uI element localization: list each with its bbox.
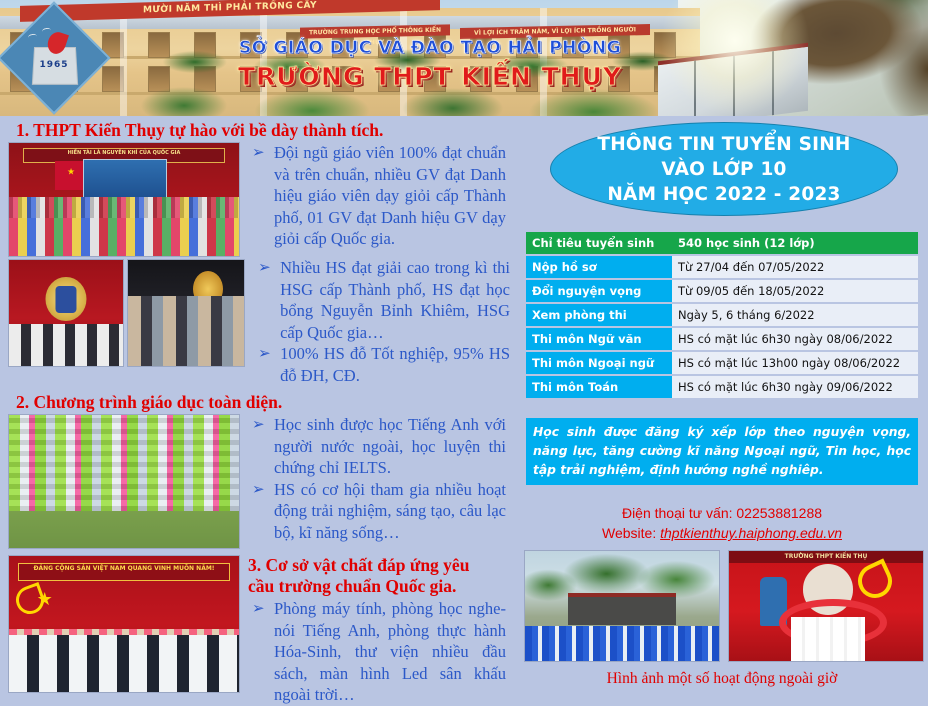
- headline-line-1: THÔNG TIN TUYỂN SINH: [597, 134, 850, 155]
- section-1-text: ➢ Đội ngũ giáo viên 100% đạt chuẩn và tr…: [240, 142, 512, 257]
- table-cell-label: Thi môn Ngữ văn: [526, 328, 672, 350]
- table-row: Thi môn Ngoại ngữ HS có mặt lúc 13h00 ng…: [526, 352, 918, 374]
- group-of-people: [128, 296, 244, 366]
- students-blue-uniform: [525, 626, 719, 661]
- section-2-title: 2. Chương trình giáo dục toàn diện.: [0, 386, 516, 414]
- website-link[interactable]: thptkienthuy.haiphong.edu.vn: [660, 525, 842, 541]
- table-cell-label: Thi môn Ngoại ngữ: [526, 352, 672, 374]
- section-1-title: 1. THPT Kiến Thụy tự hào với bề dày thàn…: [0, 118, 516, 142]
- admission-poster: MƯỜI NĂM THÌ PHẢI TRỒNG CÂY TRƯỜNG TRUNG…: [0, 0, 928, 697]
- stage-top-banner: TRƯỜNG THPT KIẾN THỤ: [729, 551, 923, 563]
- sun-flare: [660, 0, 810, 116]
- section-3-title: 3. Cơ sở vật chất đáp ứng yêu cầu trường…: [248, 555, 506, 598]
- table-cell-value: Từ 27/04 đến 07/05/2022: [672, 256, 918, 278]
- list-item: ➢ HS có cơ hội tham gia nhiều hoạt động …: [248, 479, 506, 544]
- list-item: ➢ Phòng máy tính, phòng học nghe-nói Tiế…: [248, 598, 506, 706]
- award-recipients: [9, 324, 123, 366]
- table-cell-label: Xem phòng thi: [526, 304, 672, 326]
- arrow-bullet-icon: ➢: [252, 480, 265, 502]
- school-name: TRƯỜNG THPT KIẾN THỤY: [130, 62, 730, 91]
- party-banner-strip: ĐẢNG CỘNG SẢN VIỆT NAM QUANG VINH MUÔN N…: [18, 563, 230, 581]
- performers-in-ao-dai: [791, 617, 865, 661]
- bottom-photo-strip: TRƯỜNG THPT KIẾN THỤ: [524, 550, 924, 662]
- headline-ellipse: THÔNG TIN TUYỂN SINH VÀO LỚP 10 NĂM HỌC …: [550, 122, 898, 216]
- section-3-text: ➢ Phòng máy tính, phòng học nghe-nói Tiế…: [248, 598, 506, 706]
- header-banner: MƯỜI NĂM THÌ PHẢI TRỒNG CÂY TRƯỜNG TRUNG…: [0, 0, 928, 116]
- photo-school-gate-group: [524, 550, 720, 662]
- headline-line-2: VÀO LỚP 10: [661, 159, 786, 180]
- section-3-block: 3. Cơ sở vật chất đáp ứng yêu cầu trường…: [240, 555, 512, 706]
- section-1-text-2: ➢ Nhiều HS đạt giải cao trong kì thi HSG…: [246, 257, 516, 386]
- table-cell-value: HS có mặt lúc 13h00 ngày 08/06/2022: [672, 352, 918, 374]
- party-members: [9, 635, 239, 692]
- photo-stage-performance: TRƯỜNG THPT KIẾN THỤ: [728, 550, 924, 662]
- list-item: ➢ Đội ngũ giáo viên 100% đạt chuẩn và tr…: [248, 142, 506, 250]
- stage-screen: [83, 159, 168, 202]
- list-item: ➢ Học sinh được học Tiếng Anh với người …: [248, 414, 506, 479]
- headline-line-3: NĂM HỌC 2022 - 2023: [607, 184, 840, 205]
- table-cell-label: Chỉ tiêu tuyển sinh: [526, 232, 672, 254]
- students-on-field: [9, 415, 239, 511]
- list-item: ➢ 100% HS đỗ Tốt nghiệp, 95% HS đỗ ĐH, C…: [254, 343, 510, 386]
- section-1-row: HIỀN TÀI LÀ NGUYÊN KHÍ CỦA QUỐC GIA ➢ Độ…: [0, 142, 516, 257]
- photo-outdoor-activity: [8, 414, 240, 549]
- school-gate: [568, 593, 677, 626]
- phone-line: Điện thoại tư vấn: 02253881288: [516, 503, 928, 523]
- website-line: Website: thptkienthuy.haiphong.edu.vn: [516, 523, 928, 543]
- photo-party-admission: ĐẢNG CỘNG SẢN VIỆT NAM QUANG VINH MUÔN N…: [8, 555, 240, 693]
- section-2-text: ➢ Học sinh được học Tiếng Anh với người …: [240, 414, 512, 549]
- left-content-column: 1. THPT Kiến Thụy tự hào với bề dày thàn…: [0, 118, 516, 697]
- table-cell-value: 540 học sinh (12 lớp): [672, 232, 918, 254]
- website-label: Website:: [602, 525, 660, 541]
- photo-student-group: [127, 259, 245, 367]
- table-cell-value: HS có mặt lúc 6h30 ngày 08/06/2022: [672, 328, 918, 350]
- table-cell-value: HS có mặt lúc 6h30 ngày 09/06/2022: [672, 376, 918, 398]
- table-row: Thi môn Ngữ văn HS có mặt lúc 6h30 ngày …: [526, 328, 918, 350]
- section-3-row: ĐẢNG CỘNG SẢN VIỆT NAM QUANG VINH MUÔN N…: [0, 555, 516, 706]
- table-cell-label: Nộp hồ sơ: [526, 256, 672, 278]
- table-row: Nộp hồ sơ Từ 27/04 đến 07/05/2022: [526, 256, 918, 278]
- table-row: Xem phòng thi Ngày 5, 6 tháng 6/2022: [526, 304, 918, 326]
- photo-award-ceremony: [8, 259, 124, 367]
- bottom-caption: Hình ảnh một số hoạt động ngoài giờ: [516, 670, 928, 688]
- section-2-row: ➢ Học sinh được học Tiếng Anh với người …: [0, 414, 516, 549]
- right-info-column: THÔNG TIN TUYỂN SINH VÀO LỚP 10 NĂM HỌC …: [516, 118, 928, 697]
- table-cell-value: Từ 09/05 đến 18/05/2022: [672, 280, 918, 302]
- arrow-bullet-icon: ➢: [252, 143, 265, 165]
- contact-block: Điện thoại tư vấn: 02253881288 Website: …: [516, 503, 928, 543]
- arrow-bullet-icon: ➢: [258, 258, 271, 280]
- photo-teachers-ceremony: HIỀN TÀI LÀ NGUYÊN KHÍ CỦA QUỐC GIA: [8, 142, 240, 257]
- table-row: Đổi nguyện vọng Từ 09/05 đến 18/05/2022: [526, 280, 918, 302]
- arrow-bullet-icon: ➢: [252, 415, 265, 437]
- teacher-group: [9, 197, 239, 256]
- class-placement-note: Học sinh được đăng ký xếp lớp theo nguyệ…: [526, 418, 918, 485]
- table-row: Thi môn Toán HS có mặt lúc 6h30 ngày 09/…: [526, 376, 918, 398]
- arrow-bullet-icon: ➢: [258, 344, 271, 366]
- arrow-bullet-icon: ➢: [252, 599, 265, 621]
- table-cell-value: Ngày 5, 6 tháng 6/2022: [672, 304, 918, 326]
- table-row: Chỉ tiêu tuyển sinh 540 học sinh (12 lớp…: [526, 232, 918, 254]
- department-name: SỞ GIÁO DỤC VÀ ĐÀO TẠO HẢI PHÒNG: [150, 38, 710, 58]
- table-cell-label: Đổi nguyện vọng: [526, 280, 672, 302]
- admission-info-table: Chỉ tiêu tuyển sinh 540 học sinh (12 lớp…: [526, 230, 918, 400]
- banner-small-ribbon-left: TRƯỜNG TRUNG HỌC PHỔ THÔNG KIẾN THỤY: [300, 24, 450, 38]
- section-1-row-2: ➢ Nhiều HS đạt giải cao trong kì thi HSG…: [0, 257, 516, 386]
- hammer-sickle-icon: [852, 559, 897, 604]
- table-cell-label: Thi môn Toán: [526, 376, 672, 398]
- medal-emblem: [45, 277, 86, 322]
- list-item: ➢ Nhiều HS đạt giải cao trong kì thi HSG…: [254, 257, 510, 343]
- gold-star-icon: ★: [37, 589, 53, 610]
- logo-year: 1965: [16, 60, 92, 70]
